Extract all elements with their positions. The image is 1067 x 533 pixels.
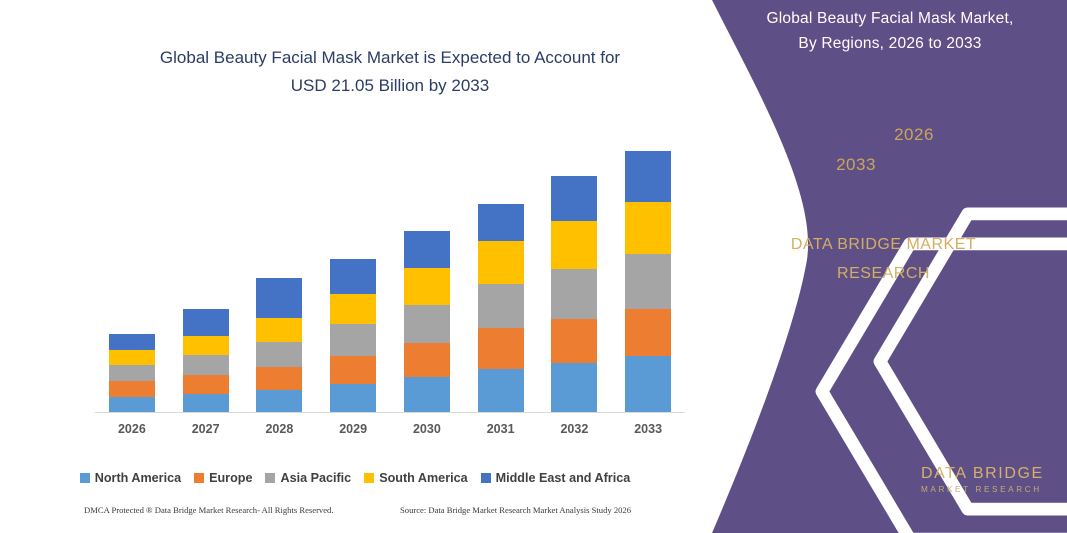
legend-item[interactable]: South America: [364, 471, 467, 485]
bar-segment[interactable]: [256, 318, 302, 342]
panel-title: Global Beauty Facial Mask Market, By Reg…: [720, 6, 1060, 56]
x-axis-tick-2033: 2033: [611, 422, 685, 436]
chart-legend: North AmericaEuropeAsia PacificSouth Ame…: [0, 471, 710, 485]
bar-segment[interactable]: [330, 259, 376, 294]
legend-swatch-icon: [481, 473, 491, 483]
bar-segment[interactable]: [404, 377, 450, 413]
chart-title-line1: Global Beauty Facial Mask Market is Expe…: [160, 48, 620, 67]
legend-swatch-icon: [194, 473, 204, 483]
x-axis-line: [95, 412, 685, 413]
bar-segment[interactable]: [330, 356, 376, 384]
bar-stack-2030[interactable]: [404, 231, 450, 413]
legend-label: Asia Pacific: [280, 471, 351, 485]
bar-segment[interactable]: [109, 397, 155, 413]
x-axis-tick-2026: 2026: [95, 422, 169, 436]
bar-segment[interactable]: [256, 342, 302, 367]
bar-stack-2028[interactable]: [256, 278, 302, 413]
x-axis-tick-2027: 2027: [169, 422, 243, 436]
bar-segment[interactable]: [183, 309, 229, 336]
footer-copyright: DMCA Protected ® Data Bridge Market Rese…: [84, 505, 334, 515]
hexagon-badge-end-year: 2033: [810, 125, 902, 205]
x-axis-labels: 20262027202820292030203120322033: [95, 419, 685, 441]
bar-segment[interactable]: [109, 365, 155, 381]
bar-segment[interactable]: [330, 324, 376, 356]
bar-segment[interactable]: [551, 363, 597, 413]
footer-source: Source: Data Bridge Market Research Mark…: [400, 505, 631, 515]
bar-segment[interactable]: [183, 336, 229, 355]
company-logo: DATA BRIDGE MARKET RESEARCH: [855, 458, 1055, 520]
bar-segment[interactable]: [404, 268, 450, 305]
bar-segment[interactable]: [551, 269, 597, 319]
bar-segment[interactable]: [404, 343, 450, 377]
logo-main-text: DATA BRIDGE: [921, 464, 1044, 483]
bar-segment[interactable]: [183, 394, 229, 413]
brand-name: DATA BRIDGE MARKET RESEARCH: [710, 230, 1057, 288]
bar-segment[interactable]: [109, 350, 155, 365]
legend-swatch-icon: [80, 473, 90, 483]
bar-segment[interactable]: [404, 305, 450, 343]
bar-segment[interactable]: [109, 381, 155, 397]
bar-segment[interactable]: [478, 369, 524, 413]
legend-label: Europe: [209, 471, 252, 485]
bar-segment[interactable]: [478, 241, 524, 284]
bar-segment[interactable]: [625, 254, 671, 309]
bar-segment[interactable]: [551, 221, 597, 269]
bar-segment[interactable]: [330, 294, 376, 324]
bar-segment[interactable]: [478, 204, 524, 241]
bar-segment[interactable]: [109, 334, 155, 350]
bar-chart-plot-area: [95, 120, 685, 413]
chart-title-line2: USD 21.05 Billion by 2033: [90, 72, 690, 100]
bar-segment[interactable]: [551, 176, 597, 221]
x-axis-tick-2032: 2032: [537, 422, 611, 436]
legend-label: South America: [379, 471, 467, 485]
chart-title: Global Beauty Facial Mask Market is Expe…: [90, 44, 690, 100]
panel-title-line2: By Regions, 2026 to 2033: [720, 31, 1060, 56]
hexagon-badges: 2026 2033: [800, 95, 1000, 205]
x-axis-tick-2031: 2031: [464, 422, 538, 436]
legend-label: North America: [95, 471, 181, 485]
bar-segment[interactable]: [625, 151, 671, 202]
bar-segment[interactable]: [256, 278, 302, 318]
bar-segment[interactable]: [551, 319, 597, 363]
bar-segment[interactable]: [330, 384, 376, 413]
bar-stack-2029[interactable]: [330, 259, 376, 413]
bar-segment[interactable]: [404, 231, 450, 268]
hexagon-end-year-label: 2033: [810, 125, 902, 205]
bar-segment[interactable]: [625, 356, 671, 413]
legend-swatch-icon: [364, 473, 374, 483]
bar-segment[interactable]: [478, 328, 524, 369]
bar-segment[interactable]: [625, 202, 671, 254]
bar-stack-2032[interactable]: [551, 176, 597, 413]
bar-segment[interactable]: [183, 375, 229, 394]
bar-stack-2027[interactable]: [183, 309, 229, 413]
legend-swatch-icon: [265, 473, 275, 483]
bar-stack-2031[interactable]: [478, 204, 524, 413]
brand-name-line1: DATA BRIDGE MARKET: [791, 236, 976, 253]
footer: DMCA Protected ® Data Bridge Market Rese…: [0, 505, 710, 525]
bar-segment[interactable]: [256, 367, 302, 390]
legend-item[interactable]: Asia Pacific: [265, 471, 351, 485]
legend-item[interactable]: Middle East and Africa: [481, 471, 631, 485]
logo-wordmark: DATA BRIDGE MARKET RESEARCH: [921, 464, 1044, 497]
bar-segment[interactable]: [625, 309, 671, 356]
panel-title-line1: Global Beauty Facial Mask Market,: [767, 10, 1014, 27]
bar-stack-2026[interactable]: [109, 334, 155, 413]
legend-label: Middle East and Africa: [496, 471, 631, 485]
bar-stack-2033[interactable]: [625, 151, 671, 413]
x-axis-tick-2030: 2030: [390, 422, 464, 436]
bar-segment[interactable]: [183, 355, 229, 375]
bar-segment[interactable]: [478, 284, 524, 328]
brand-name-line2: RESEARCH: [837, 265, 930, 282]
x-axis-tick-2029: 2029: [316, 422, 390, 436]
x-axis-tick-2028: 2028: [242, 422, 316, 436]
brand-panel: Global Beauty Facial Mask Market, By Reg…: [700, 0, 1067, 533]
legend-item[interactable]: Europe: [194, 471, 252, 485]
logo-sub-text: MARKET RESEARCH: [921, 483, 1044, 497]
legend-item[interactable]: North America: [80, 471, 181, 485]
bar-segment[interactable]: [256, 390, 302, 413]
infographic-canvas: Global Beauty Facial Mask Market is Expe…: [0, 0, 1067, 533]
